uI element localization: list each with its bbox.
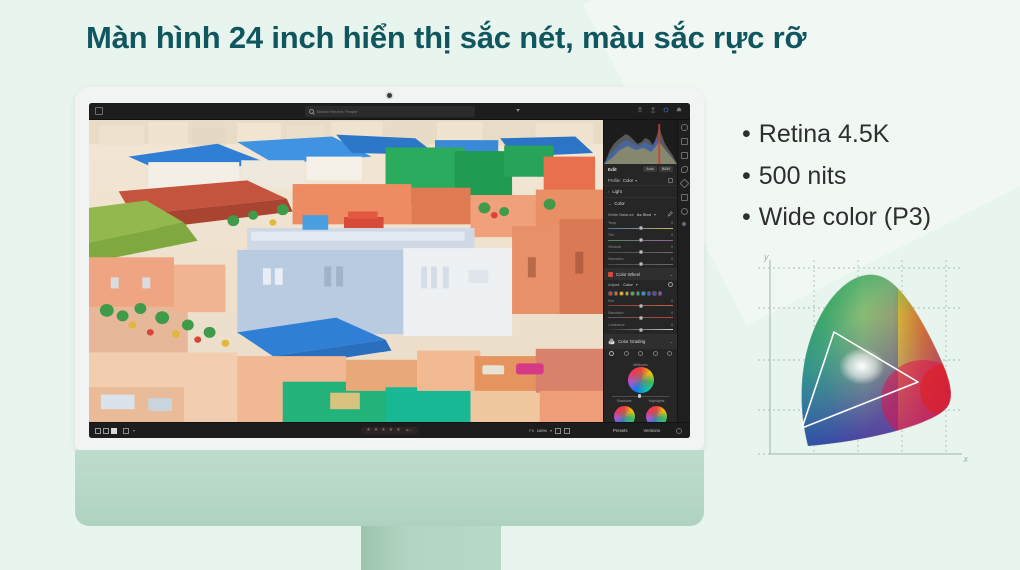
slider-hue-label: Hue <box>608 299 614 303</box>
app-bottom-bar: ▾ ★ ★ ★ ★ ★ ⚑⚐ Fit 100% ▾ <box>89 422 690 438</box>
edit-panel-header: Edit Auto B&W <box>604 164 677 174</box>
cloud-icon[interactable] <box>676 107 682 113</box>
feature-label: Wide color (P3) <box>759 203 931 231</box>
slider-tint[interactable]: Tint0 <box>604 232 677 244</box>
presets-icon[interactable] <box>681 194 688 201</box>
zoom-fit-label: Fit <box>529 428 533 433</box>
list-item: •500 nits <box>742 156 931 198</box>
cie-plot <box>748 250 970 464</box>
app-top-right-icons <box>637 107 682 113</box>
fullscreen-icon[interactable] <box>564 428 570 434</box>
edit-title: Edit <box>608 167 617 172</box>
page-title: Màn hình 24 inch hiển thị sắc nét, màu s… <box>86 20 956 56</box>
chevron-down-icon: ⌄ <box>608 201 611 206</box>
x-axis-label: x <box>964 454 969 464</box>
shadows-wheel[interactable] <box>614 406 635 423</box>
slider-tint-label: Tint <box>608 233 614 237</box>
photo-image <box>89 120 603 422</box>
slider-wheel-saturation-label: Saturation <box>608 311 623 315</box>
bw-button[interactable]: B&W <box>659 166 673 172</box>
grading-tab-all-icon[interactable] <box>609 351 614 356</box>
slider-knob[interactable] <box>639 316 643 320</box>
slider-temp-value: 0 <box>671 221 673 225</box>
app-top-bar: Search Recent, People <box>89 103 690 120</box>
highlights-label: Highlights <box>649 399 665 403</box>
info-icon[interactable] <box>676 428 682 434</box>
swatch[interactable] <box>619 291 624 296</box>
chevron-down-icon[interactable]: ▾ <box>550 428 552 433</box>
app-body: Edit Auto B&W Profile: Color ▾ <box>89 120 690 422</box>
profile-browser-icon[interactable] <box>668 178 673 183</box>
compare-view-icon[interactable] <box>103 428 109 434</box>
feature-label: Retina 4.5K <box>759 120 890 148</box>
slider-knob[interactable] <box>639 238 643 242</box>
slider-hue[interactable]: Hue0 <box>604 298 677 310</box>
white-balance-label: White Balance <box>608 212 634 217</box>
tool-rail <box>677 120 690 422</box>
slider-knob[interactable] <box>639 328 643 332</box>
chevron-down-icon[interactable]: ⌄ <box>670 272 673 277</box>
grading-tab-highlights-icon[interactable] <box>653 351 658 356</box>
versions-button[interactable]: Versions <box>644 428 660 433</box>
chevron-right-icon: › <box>608 189 609 194</box>
list-item: •Retina 4.5K <box>742 114 931 156</box>
slider-saturation-label: Saturation <box>608 257 623 261</box>
before-after-icon[interactable] <box>555 428 561 434</box>
white-balance-value: As Shot <box>637 212 651 217</box>
profile-label: Profile: <box>608 178 621 183</box>
swatch[interactable] <box>630 291 635 296</box>
imac-monitor: Search Recent, People <box>75 87 704 450</box>
color-grading-icon <box>608 338 615 346</box>
swatch[interactable] <box>614 291 619 296</box>
swatch[interactable] <box>641 291 646 296</box>
healing-brush-icon[interactable] <box>681 166 688 173</box>
eyedropper-icon[interactable] <box>667 211 673 218</box>
slider-wheel-saturation[interactable]: Saturation0 <box>604 310 677 322</box>
camera-icon <box>387 93 392 98</box>
midtones-wheel[interactable] <box>628 367 654 393</box>
color-wheel-title: Color Wheel <box>616 272 640 277</box>
slider-hue-value: 0 <box>671 299 673 303</box>
adjust-label: Adjust: <box>608 282 620 287</box>
swatch[interactable] <box>608 291 613 296</box>
section-color[interactable]: ⌄ Color <box>604 197 677 209</box>
feature-label: 500 nits <box>759 162 847 190</box>
profile-value: Color <box>623 178 633 183</box>
share-icon[interactable] <box>650 107 656 113</box>
slider-knob[interactable] <box>639 304 643 308</box>
grading-tab-midtones-icon[interactable] <box>638 351 643 356</box>
monitor-chin <box>75 450 704 526</box>
grading-tab-shadows-icon[interactable] <box>624 351 629 356</box>
slider-vibrance-label: Vibrance <box>608 245 621 249</box>
histogram-graph <box>604 120 677 164</box>
slider-luminance-label: Luminance <box>608 323 625 327</box>
monitor-screen: Search Recent, People <box>89 103 690 438</box>
swatch[interactable] <box>625 291 630 296</box>
section-color-wheel[interactable]: Color Wheel ⌄ <box>604 268 677 280</box>
histogram[interactable] <box>604 120 677 164</box>
midtones-label: Midtones <box>608 363 673 367</box>
swatch[interactable] <box>636 291 641 296</box>
bullet-icon: • <box>742 203 751 231</box>
shadows-label: Shadows <box>617 399 632 403</box>
swatch[interactable] <box>652 291 657 296</box>
colorful-town-photo <box>89 120 603 422</box>
color-swatches[interactable] <box>604 289 677 298</box>
adjust-value: Color <box>623 282 633 287</box>
star-icon[interactable]: ★ <box>381 428 385 433</box>
cloud-icon[interactable] <box>681 124 688 131</box>
slider-saturation[interactable]: Saturation0 <box>604 256 677 268</box>
color-wheel-icon <box>608 272 613 277</box>
rating-stars[interactable]: ★ ★ ★ ★ ★ ⚑⚐ <box>360 427 419 434</box>
presets-button[interactable]: Presets <box>613 428 628 433</box>
monitor-stand-neck <box>361 526 501 570</box>
bottom-right-buttons: Presets Versions <box>613 428 682 434</box>
photo-canvas[interactable] <box>89 120 603 422</box>
adjust-row[interactable]: Adjust: Color ▾ <box>604 280 677 289</box>
highlights-wheel[interactable] <box>646 406 667 423</box>
zoom-control[interactable]: Fit 100% ▾ <box>529 428 570 434</box>
section-light[interactable]: › Light <box>604 185 677 197</box>
star-icon[interactable]: ★ <box>389 428 393 433</box>
versions-icon[interactable] <box>681 208 688 215</box>
poster-canvas: Màn hình 24 inch hiển thị sắc nét, màu s… <box>0 0 1020 570</box>
star-icon[interactable]: ★ <box>374 428 378 433</box>
grading-mode-tabs[interactable] <box>604 349 677 358</box>
slider-temp[interactable]: Temp0 <box>604 220 677 232</box>
slider-knob[interactable] <box>639 262 643 266</box>
filter-icon[interactable] <box>123 428 129 434</box>
sync-icon[interactable] <box>663 107 669 113</box>
bullet-icon: • <box>742 162 751 190</box>
slider-tint-value: 0 <box>671 233 673 237</box>
y-axis-label: y <box>764 252 769 262</box>
star-icon[interactable]: ★ <box>396 428 400 433</box>
more-options-icon[interactable] <box>682 222 686 226</box>
swatch[interactable] <box>647 291 652 296</box>
grading-tab-global-icon[interactable] <box>667 351 672 356</box>
detail-view-icon[interactable] <box>111 428 117 434</box>
midtones-luminance-slider[interactable] <box>612 395 669 398</box>
view-mode-group[interactable]: ▾ <box>95 428 135 434</box>
bullet-icon: • <box>742 120 751 148</box>
cie-chromaticity-diagram: y x <box>748 250 970 464</box>
person-icon[interactable] <box>637 107 643 113</box>
section-color-grading[interactable]: Color Grading ⌄ <box>604 334 677 349</box>
profile-row[interactable]: Profile: Color ▾ <box>604 176 677 185</box>
slider-luminance-value: 0 <box>671 323 673 327</box>
search-input[interactable]: Search Recent, People <box>305 106 475 117</box>
list-item: •Wide color (P3) <box>742 197 931 239</box>
swatch[interactable] <box>658 291 663 296</box>
zoom-value: 100% <box>537 428 547 433</box>
slider-knob[interactable] <box>639 250 643 254</box>
auto-button[interactable]: Auto <box>643 166 656 172</box>
grid-view-icon[interactable] <box>95 428 101 434</box>
color-grading-title: Color Grading <box>618 339 645 344</box>
slider-saturation-value: 0 <box>671 257 673 261</box>
section-light-label: Light <box>612 189 622 194</box>
photo-editor-app: Search Recent, People <box>89 103 690 438</box>
slider-wheel-saturation-value: 0 <box>671 311 673 315</box>
feature-list: •Retina 4.5K •500 nits •Wide color (P3) <box>742 114 931 239</box>
slider-vibrance[interactable]: Vibrance0 <box>604 244 677 256</box>
search-icon <box>309 109 314 114</box>
slider-vibrance-value: 0 <box>671 245 673 249</box>
chevron-down-icon[interactable]: ▾ <box>635 178 637 183</box>
chevron-down-icon[interactable]: ▾ <box>636 282 638 287</box>
search-placeholder: Search Recent, People <box>317 109 358 114</box>
flag-icon[interactable]: ⚑⚐ <box>406 428 413 433</box>
chevron-down-icon[interactable]: ▾ <box>133 428 135 433</box>
edit-panel: Edit Auto B&W Profile: Color ▾ <box>603 120 677 422</box>
star-icon[interactable]: ★ <box>366 428 370 433</box>
sidebar-toggle-icon[interactable] <box>95 107 103 115</box>
reset-icon[interactable] <box>668 282 673 287</box>
chevron-down-icon[interactable]: ▾ <box>654 212 656 217</box>
masking-brush-icon[interactable] <box>679 179 689 189</box>
white-balance-row[interactable]: White Balance As Shot ▾ <box>604 209 677 220</box>
edit-tool-icon[interactable] <box>681 138 688 145</box>
section-color-label: Color <box>614 201 625 206</box>
color-grading-wheels[interactable]: Midtones Shadows Highlights <box>604 358 677 423</box>
filter-icon[interactable] <box>516 109 520 112</box>
slider-luminance[interactable]: Luminance0 <box>604 322 677 334</box>
slider-knob[interactable] <box>639 226 643 230</box>
slider-temp-label: Temp <box>608 221 616 225</box>
crop-tool-icon[interactable] <box>681 152 688 159</box>
chevron-down-icon[interactable]: ⌄ <box>670 339 673 344</box>
